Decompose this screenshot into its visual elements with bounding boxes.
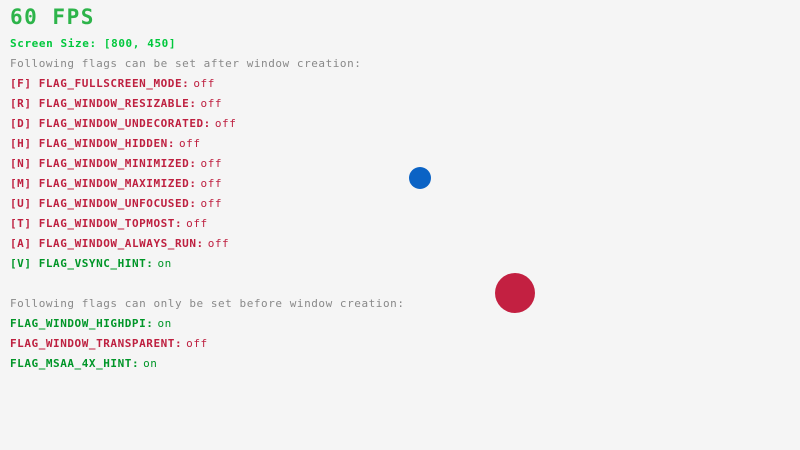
flag-state-value: off [179, 137, 201, 150]
flag-state-value: off [201, 157, 223, 170]
flag-name: FLAG_WINDOW_TOPMOST [39, 217, 175, 230]
flag-name: FLAG_WINDOW_MAXIMIZED [39, 177, 190, 190]
flag-name: FLAG_VSYNC_HINT [39, 257, 147, 270]
flag-row-flag-window-topmost[interactable]: [T] FLAG_WINDOW_TOPMOST:off [10, 218, 208, 229]
flag-state-value: off [201, 197, 223, 210]
flag-row-flag-window-minimized[interactable]: [N] FLAG_WINDOW_MINIMIZED:off [10, 158, 222, 169]
flag-name: FLAG_WINDOW_TRANSPARENT [10, 337, 175, 350]
flag-row-flag-window-highdpi[interactable]: FLAG_WINDOW_HIGHDPI:on [10, 318, 172, 329]
flag-row-flag-vsync-hint[interactable]: [V] FLAG_VSYNC_HINT:on [10, 258, 172, 269]
screen-size-label: Screen Size: [800, 450] [10, 38, 176, 49]
flag-shortcut-key: [T] [10, 217, 39, 230]
flag-row-flag-window-transparent[interactable]: FLAG_WINDOW_TRANSPARENT:off [10, 338, 208, 349]
flag-state-value: off [201, 177, 223, 190]
flag-colon: : [132, 357, 139, 370]
raylib-window: 60 FPS Screen Size: [800, 450] Following… [0, 0, 800, 450]
flag-colon: : [189, 177, 196, 190]
flag-state-value: off [215, 117, 237, 130]
flag-colon: : [189, 97, 196, 110]
flag-colon: : [175, 217, 182, 230]
flag-shortcut-key: [M] [10, 177, 39, 190]
flag-row-flag-window-undecorated[interactable]: [D] FLAG_WINDOW_UNDECORATED:off [10, 118, 236, 129]
flag-name: FLAG_WINDOW_HIDDEN [39, 137, 168, 150]
flag-state-value: on [157, 317, 171, 330]
flag-colon: : [146, 317, 153, 330]
flag-name: FLAG_FULLSCREEN_MODE [39, 77, 182, 90]
flag-name: FLAG_WINDOW_UNFOCUSED [39, 197, 190, 210]
flag-row-flag-fullscreen-mode[interactable]: [F] FLAG_FULLSCREEN_MODE:off [10, 78, 215, 89]
section-heading-1: Following flags can only be set before w… [10, 298, 405, 309]
flag-row-flag-window-unfocused[interactable]: [U] FLAG_WINDOW_UNFOCUSED:off [10, 198, 222, 209]
flag-row-flag-window-always-run[interactable]: [A] FLAG_WINDOW_ALWAYS_RUN:off [10, 238, 229, 249]
info-text-layer: 60 FPS Screen Size: [800, 450] Following… [0, 0, 800, 450]
flag-shortcut-key: [F] [10, 77, 39, 90]
flag-state-value: off [186, 337, 208, 350]
section-heading-0: Following flags can be set after window … [10, 58, 361, 69]
flag-shortcut-key: [H] [10, 137, 39, 150]
flag-state-value: off [186, 217, 208, 230]
flag-row-flag-msaa-4x-hint[interactable]: FLAG_MSAA_4X_HINT:on [10, 358, 157, 369]
flag-name: FLAG_MSAA_4X_HINT [10, 357, 132, 370]
flag-colon: : [197, 237, 204, 250]
fps-counter: 60 FPS [10, 7, 95, 28]
flag-colon: : [146, 257, 153, 270]
flag-name: FLAG_WINDOW_RESIZABLE [39, 97, 190, 110]
flag-row-flag-window-resizable[interactable]: [R] FLAG_WINDOW_RESIZABLE:off [10, 98, 222, 109]
flag-state-value: on [143, 357, 157, 370]
flag-name: FLAG_WINDOW_HIGHDPI [10, 317, 146, 330]
flag-row-flag-window-hidden[interactable]: [H] FLAG_WINDOW_HIDDEN:off [10, 138, 201, 149]
flag-colon: : [189, 157, 196, 170]
flag-colon: : [168, 137, 175, 150]
flag-row-flag-window-maximized[interactable]: [M] FLAG_WINDOW_MAXIMIZED:off [10, 178, 222, 189]
flag-name: FLAG_WINDOW_ALWAYS_RUN [39, 237, 197, 250]
flag-state-value: on [157, 257, 171, 270]
flag-colon: : [204, 117, 211, 130]
flag-shortcut-key: [A] [10, 237, 39, 250]
flag-state-value: off [208, 237, 230, 250]
flag-colon: : [189, 197, 196, 210]
flag-shortcut-key: [U] [10, 197, 39, 210]
flag-shortcut-key: [V] [10, 257, 39, 270]
flag-shortcut-key: [R] [10, 97, 39, 110]
flag-shortcut-key: [N] [10, 157, 39, 170]
flag-colon: : [175, 337, 182, 350]
flag-name: FLAG_WINDOW_UNDECORATED [39, 117, 204, 130]
flag-state-value: off [193, 77, 215, 90]
flag-colon: : [182, 77, 189, 90]
flag-shortcut-key: [D] [10, 117, 39, 130]
flag-state-value: off [201, 97, 223, 110]
flag-name: FLAG_WINDOW_MINIMIZED [39, 157, 190, 170]
